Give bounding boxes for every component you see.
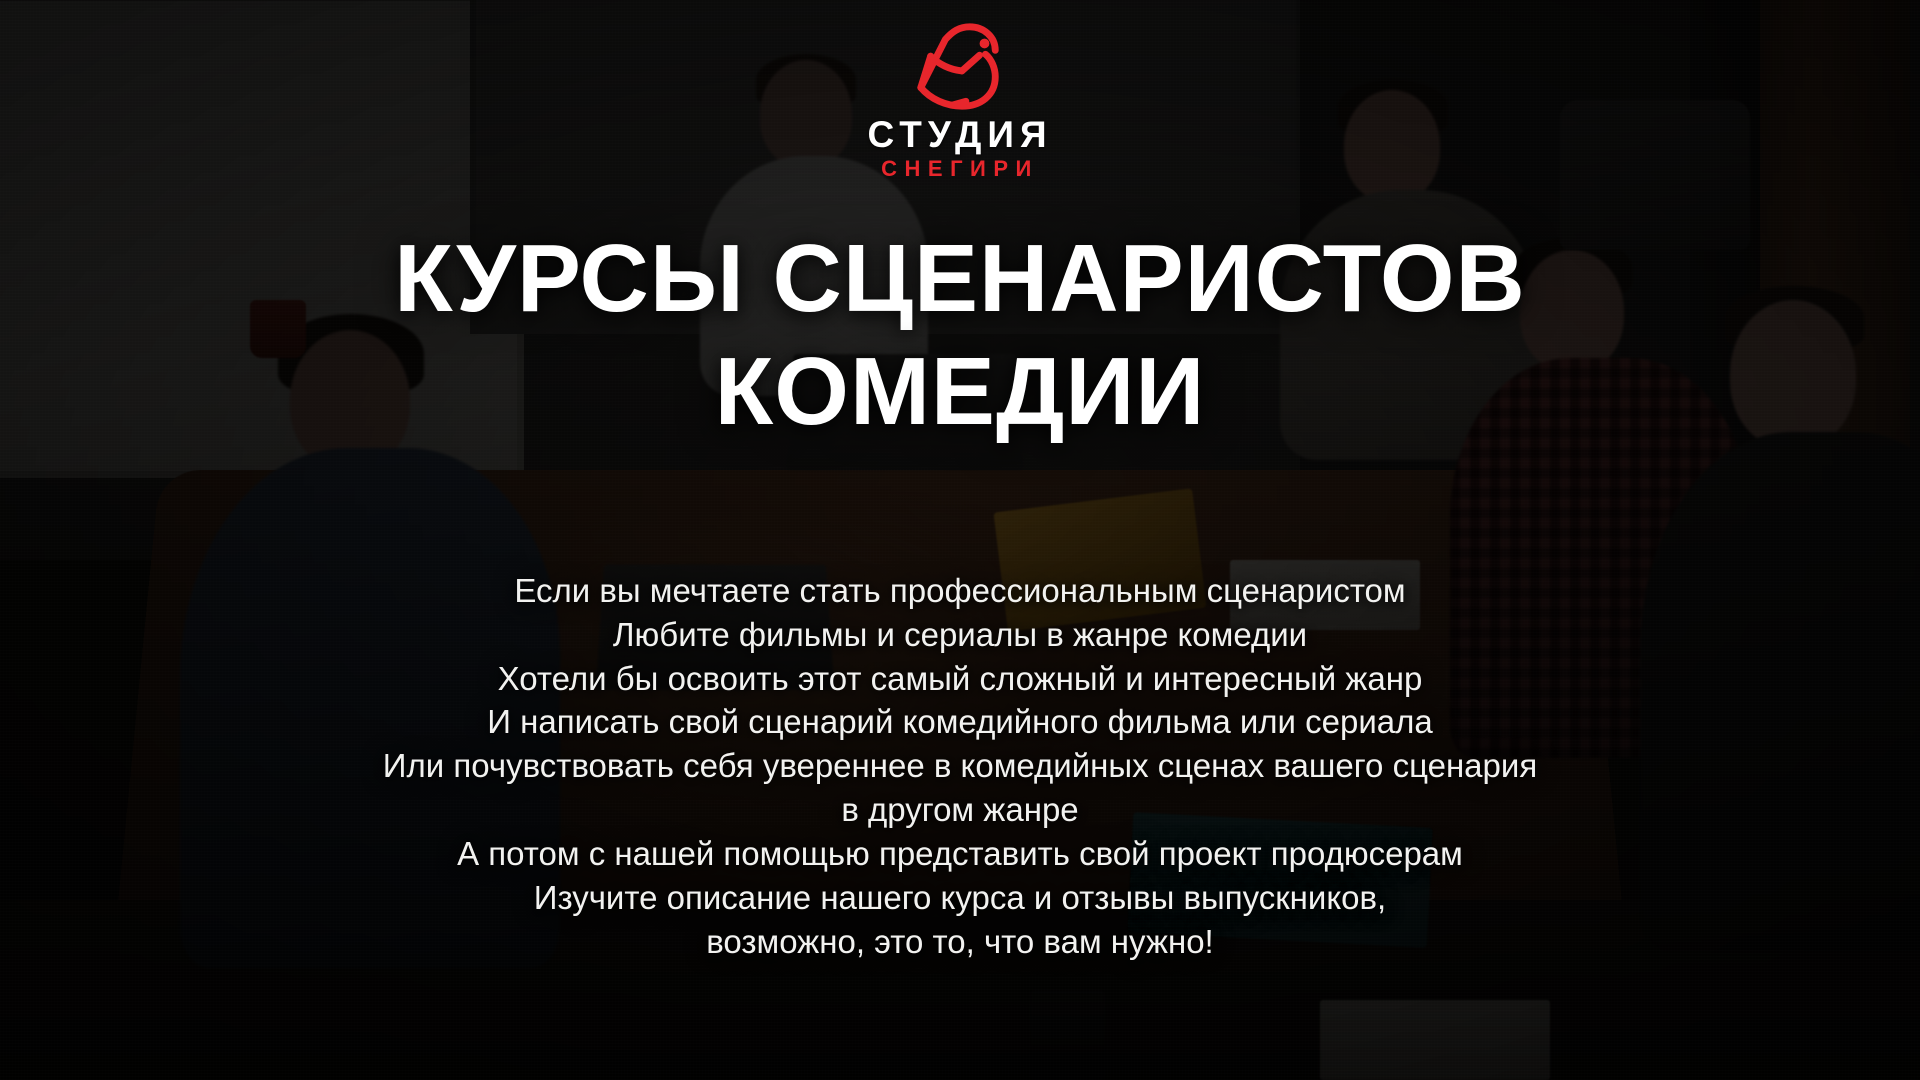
body-line: А потом с нашей помощью представить свой… (383, 832, 1537, 876)
logo-subwordmark: СНЕГИРИ (881, 158, 1039, 180)
body-line: Если вы мечтаете стать профессиональным … (383, 569, 1537, 613)
bullfinch-bird-icon (901, 18, 1019, 114)
logo-wordmark: СТУДИЯ (867, 116, 1052, 153)
brand-logo[interactable]: СТУДИЯ СНЕГИРИ (860, 18, 1060, 180)
headline-line-1: КУРСЫ СЦЕНАРИСТОВ (394, 225, 1526, 332)
body-line: Или почувствовать себя увереннее в комед… (383, 744, 1537, 788)
body-line: возможно, это то, что вам нужно! (383, 920, 1537, 964)
hero-content: СТУДИЯ СНЕГИРИ КУРСЫ СЦЕНАРИСТОВ КОМЕДИИ… (0, 0, 1920, 1080)
body-line: Любите фильмы и сериалы в жанре комедии (383, 613, 1537, 657)
page-title: КУРСЫ СЦЕНАРИСТОВ КОМЕДИИ (394, 222, 1526, 449)
hero-section: СТУДИЯ СНЕГИРИ КУРСЫ СЦЕНАРИСТОВ КОМЕДИИ… (0, 0, 1920, 1080)
headline-line-2: КОМЕДИИ (394, 335, 1526, 448)
body-line: в другом жанре (383, 788, 1537, 832)
body-line: И написать свой сценарий комедийного фил… (383, 700, 1537, 744)
body-line: Хотели бы освоить этот самый сложный и и… (383, 657, 1537, 701)
body-line: Изучите описание нашего курса и отзывы в… (383, 876, 1537, 920)
hero-body-copy: Если вы мечтаете стать профессиональным … (383, 569, 1537, 964)
